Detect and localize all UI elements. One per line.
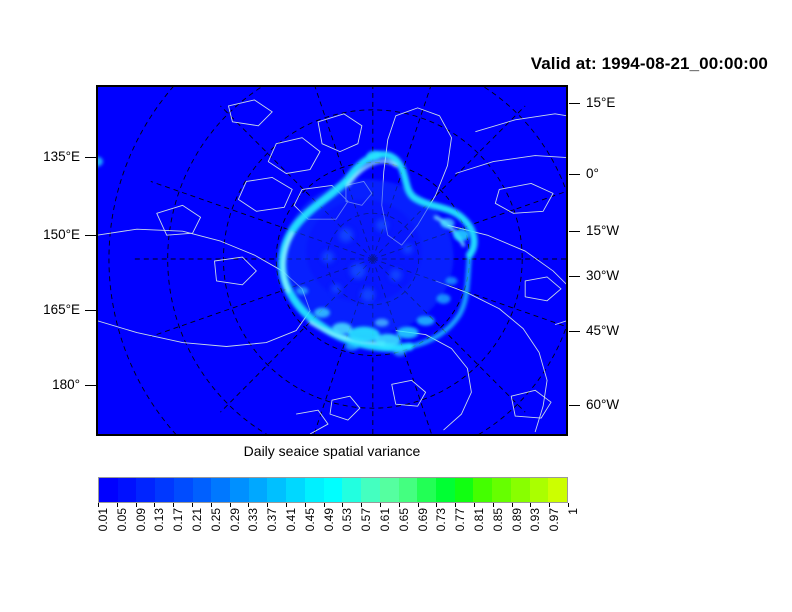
colorbar-band — [511, 478, 530, 502]
colorbar-tick — [361, 503, 362, 507]
colorbar-tick-label: 0.65 — [398, 508, 410, 531]
axis-tick-left — [85, 385, 96, 386]
colorbar-tick-label: 0.05 — [116, 508, 128, 531]
colorbar-tick — [342, 503, 343, 507]
axis-label-right: 15°W — [586, 224, 619, 238]
colorbar-tick — [568, 503, 569, 507]
colorbar-tick-label: 1 — [567, 508, 579, 515]
axis-tick-left — [85, 310, 96, 311]
colorbar-icon — [98, 477, 568, 503]
axis-label-left: 180° — [52, 378, 80, 392]
colorbar-band — [305, 478, 324, 502]
colorbar-tick — [474, 503, 475, 507]
colorbar-tick — [248, 503, 249, 507]
colorbar — [98, 477, 568, 503]
colorbar-tick-label: 0.09 — [135, 508, 147, 531]
colorbar-tick — [98, 503, 99, 507]
colorbar-tick-label: 0.21 — [191, 508, 203, 531]
colorbar-band — [436, 478, 455, 502]
axis-tick-left — [85, 235, 96, 236]
colorbar-tick — [399, 503, 400, 507]
colorbar-tick-label: 0.53 — [341, 508, 353, 531]
colorbar-tick-label: 0.69 — [417, 508, 429, 531]
colorbar-tick — [436, 503, 437, 507]
axis-tick-right — [569, 174, 580, 175]
colorbar-band — [417, 478, 436, 502]
colorbar-tick-label: 0.01 — [97, 508, 109, 531]
colorbar-tick — [230, 503, 231, 507]
axis-tick-left — [85, 157, 96, 158]
map-plot-area — [96, 85, 568, 436]
colorbar-tick — [267, 503, 268, 507]
colorbar-band — [530, 478, 549, 502]
colorbar-tick-label: 0.89 — [511, 508, 523, 531]
plot-caption: Daily seaice spatial variance — [96, 443, 568, 459]
colorbar-band — [230, 478, 249, 502]
colorbar-band — [361, 478, 380, 502]
colorbar-tick — [305, 503, 306, 507]
colorbar-band — [399, 478, 418, 502]
colorbar-tick — [211, 503, 212, 507]
axis-tick-right — [569, 276, 580, 277]
axis-tick-right — [569, 405, 580, 406]
page-title: Valid at: 1994-08-21_00:00:00 — [531, 54, 768, 74]
colorbar-tick-label: 0.13 — [153, 508, 165, 531]
colorbar-band — [211, 478, 230, 502]
axis-label-right: 45°W — [586, 324, 619, 338]
axis-tick-right — [569, 331, 580, 332]
axis-label-left: 135°E — [43, 150, 80, 164]
colorbar-tick-label: 0.85 — [492, 508, 504, 531]
colorbar-tick-label: 0.81 — [473, 508, 485, 531]
colorbar-band — [136, 478, 155, 502]
colorbar-band — [249, 478, 268, 502]
colorbar-tick-label: 0.61 — [379, 508, 391, 531]
colorbar-band — [455, 478, 474, 502]
colorbar-band — [342, 478, 361, 502]
axis-label-right: 30°W — [586, 269, 619, 283]
colorbar-band — [118, 478, 137, 502]
colorbar-tick — [380, 503, 381, 507]
colorbar-tick-label: 0.49 — [323, 508, 335, 531]
axis-tick-right — [569, 231, 580, 232]
colorbar-tick-label: 0.45 — [304, 508, 316, 531]
colorbar-tick-label: 0.93 — [529, 508, 541, 531]
colorbar-tick-labels: 0.010.050.090.130.170.210.250.290.330.37… — [98, 508, 568, 568]
colorbar-band — [267, 478, 286, 502]
colorbar-tick — [324, 503, 325, 507]
colorbar-tick — [192, 503, 193, 507]
colorbar-band — [548, 478, 567, 502]
axis-label-left: 150°E — [43, 228, 80, 242]
colorbar-tick — [530, 503, 531, 507]
colorbar-tick-label: 0.29 — [229, 508, 241, 531]
colorbar-tick-label: 0.33 — [247, 508, 259, 531]
colorbar-tick — [286, 503, 287, 507]
colorbar-tick-label: 0.57 — [360, 508, 372, 531]
colorbar-band — [492, 478, 511, 502]
colorbar-tick-label: 0.25 — [210, 508, 222, 531]
colorbar-tick-label: 0.77 — [454, 508, 466, 531]
map-frame — [96, 85, 568, 436]
colorbar-tick — [173, 503, 174, 507]
colorbar-tick-label: 0.17 — [172, 508, 184, 531]
colorbar-band — [324, 478, 343, 502]
axis-label-right: 0° — [586, 167, 599, 181]
polar-map-icon — [97, 86, 567, 435]
colorbar-band — [193, 478, 212, 502]
colorbar-tick — [136, 503, 137, 507]
colorbar-band — [174, 478, 193, 502]
colorbar-tick-label: 0.97 — [548, 508, 560, 531]
colorbar-band — [286, 478, 305, 502]
axis-label-left: 165°E — [43, 303, 80, 317]
colorbar-tick — [512, 503, 513, 507]
colorbar-tick-label: 0.41 — [285, 508, 297, 531]
colorbar-tick-label: 0.73 — [435, 508, 447, 531]
colorbar-band — [155, 478, 174, 502]
colorbar-tick — [154, 503, 155, 507]
colorbar-tick — [455, 503, 456, 507]
colorbar-band — [473, 478, 492, 502]
colorbar-tick — [549, 503, 550, 507]
colorbar-band — [380, 478, 399, 502]
colorbar-tick-label: 0.37 — [266, 508, 278, 531]
colorbar-tick — [493, 503, 494, 507]
colorbar-tick — [418, 503, 419, 507]
axis-tick-right — [569, 103, 580, 104]
axis-label-right: 60°W — [586, 398, 619, 412]
axis-label-right: 15°E — [586, 96, 615, 110]
colorbar-tick — [117, 503, 118, 507]
colorbar-band — [99, 478, 118, 502]
